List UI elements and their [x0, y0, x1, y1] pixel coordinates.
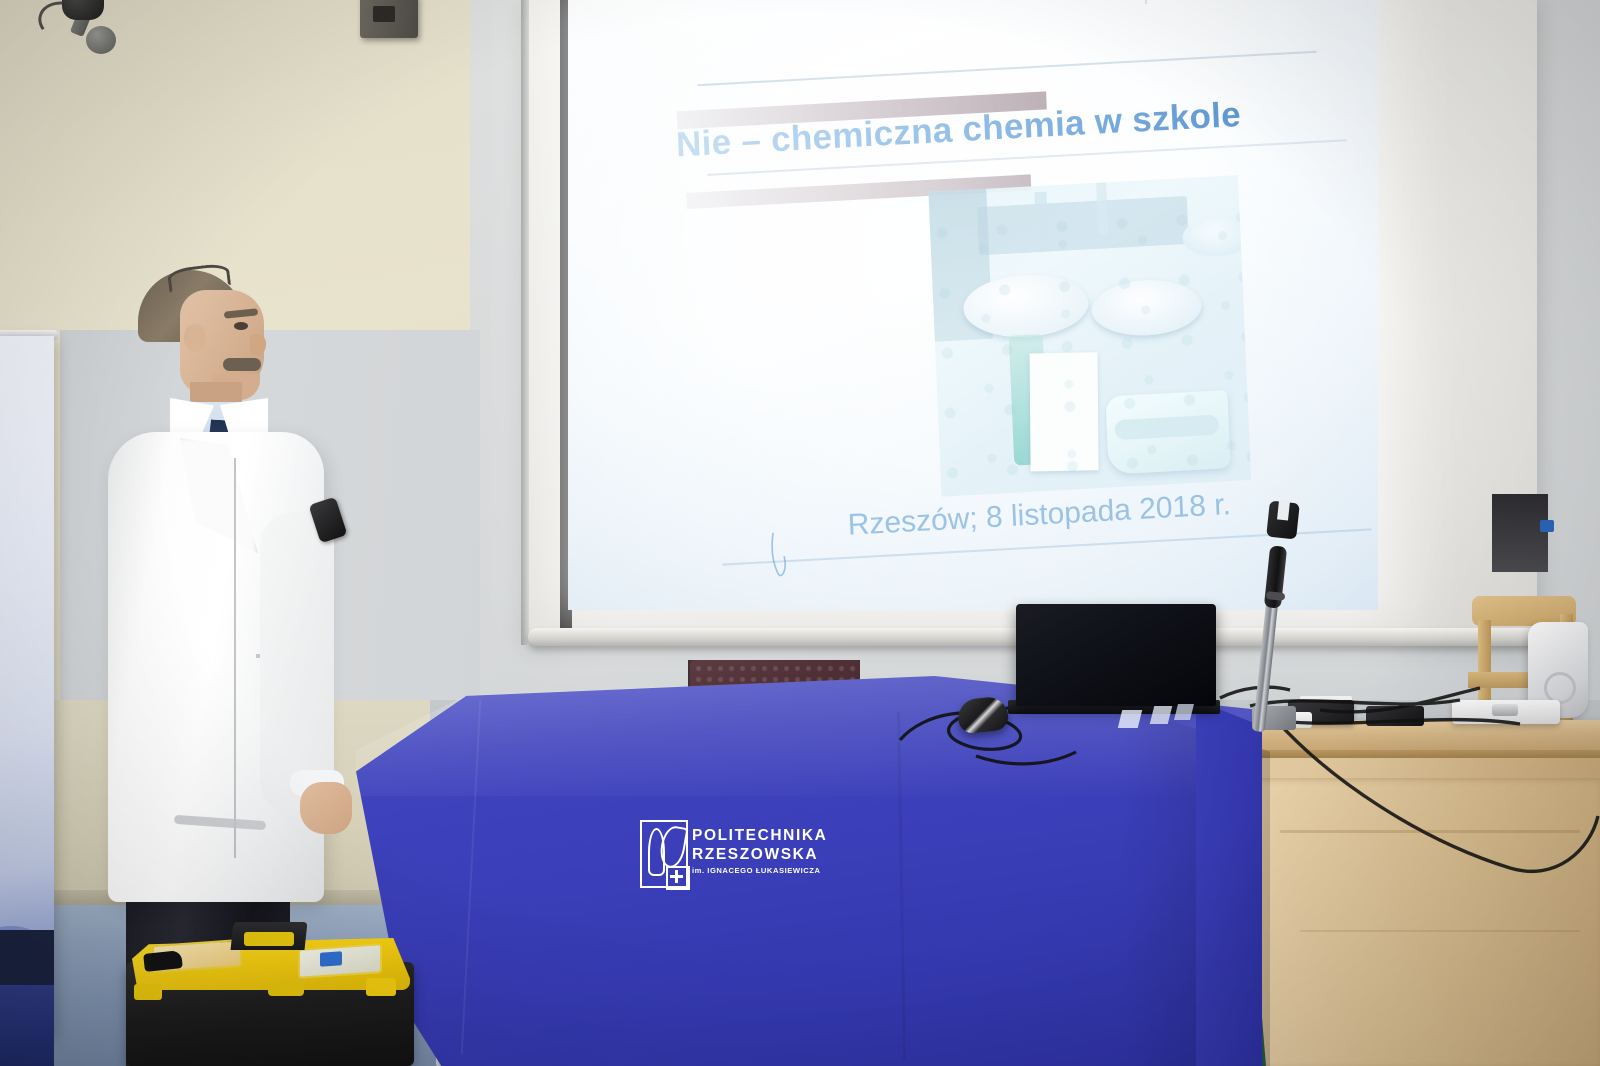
toolbox-blue-item — [320, 951, 342, 967]
slide-date-line: Rzeszów; 8 listopada 2018 r. — [847, 488, 1231, 543]
presenter-eye — [234, 322, 248, 330]
ceiling-camera-icon — [62, 0, 104, 20]
presenter-ear — [184, 324, 206, 352]
slide-watermark-icon — [1088, 0, 1258, 4]
logo-line-3: im. IGNACEGO ŁUKASIEWICZA — [692, 866, 822, 875]
slide-content: Nie – chemiczna chemia w szkole R — [643, 41, 1365, 598]
blue-indicator — [1540, 520, 1554, 532]
right-dark-equipment — [1492, 494, 1548, 572]
logo-wordmark: POLITECHNIKA RZESZOWSKA im. IGNACEGO ŁUK… — [692, 826, 822, 875]
politechnika-rzeszowska-emblem-icon — [640, 820, 688, 888]
camera-mount-ball — [86, 26, 116, 54]
projected-slide: Nie – chemiczna chemia w szkole R — [568, 0, 1378, 610]
presenter-coat-seam — [234, 458, 236, 858]
ceiling-speaker-icon — [360, 0, 418, 38]
politechnika-rzeszowska-logo: POLITECHNIKA RZESZOWSKA im. IGNACEGO ŁUK… — [640, 818, 820, 896]
presenter-moustache — [223, 358, 261, 371]
emblem-cross-icon — [666, 866, 690, 890]
lecture-room-photo: Nie – chemiczna chemia w szkole R — [0, 0, 1600, 1066]
photo-grain — [928, 175, 1251, 496]
banner-dark-band — [0, 930, 54, 990]
presenter-arm — [260, 512, 334, 812]
presenter-hand — [300, 782, 352, 834]
stand-clamp-head[interactable] — [1266, 501, 1300, 540]
toolbox-lid-notch — [268, 982, 304, 996]
logo-line-1: POLITECHNIKA — [692, 826, 822, 845]
banner-blue-band — [0, 985, 54, 1066]
toolbox-latch-right[interactable] — [366, 978, 396, 996]
screen-left-edge — [521, 0, 529, 645]
slide-squiggle-icon — [767, 530, 795, 581]
slide-photo — [928, 175, 1251, 496]
toolbox-latch-left[interactable] — [134, 984, 162, 1000]
toolbox-handle-gap — [244, 932, 294, 946]
presenter — [84, 262, 334, 952]
logo-line-2: RZESZOWSKA — [692, 845, 822, 864]
laptop-closed-lid[interactable]: ASUS — [1016, 604, 1216, 706]
